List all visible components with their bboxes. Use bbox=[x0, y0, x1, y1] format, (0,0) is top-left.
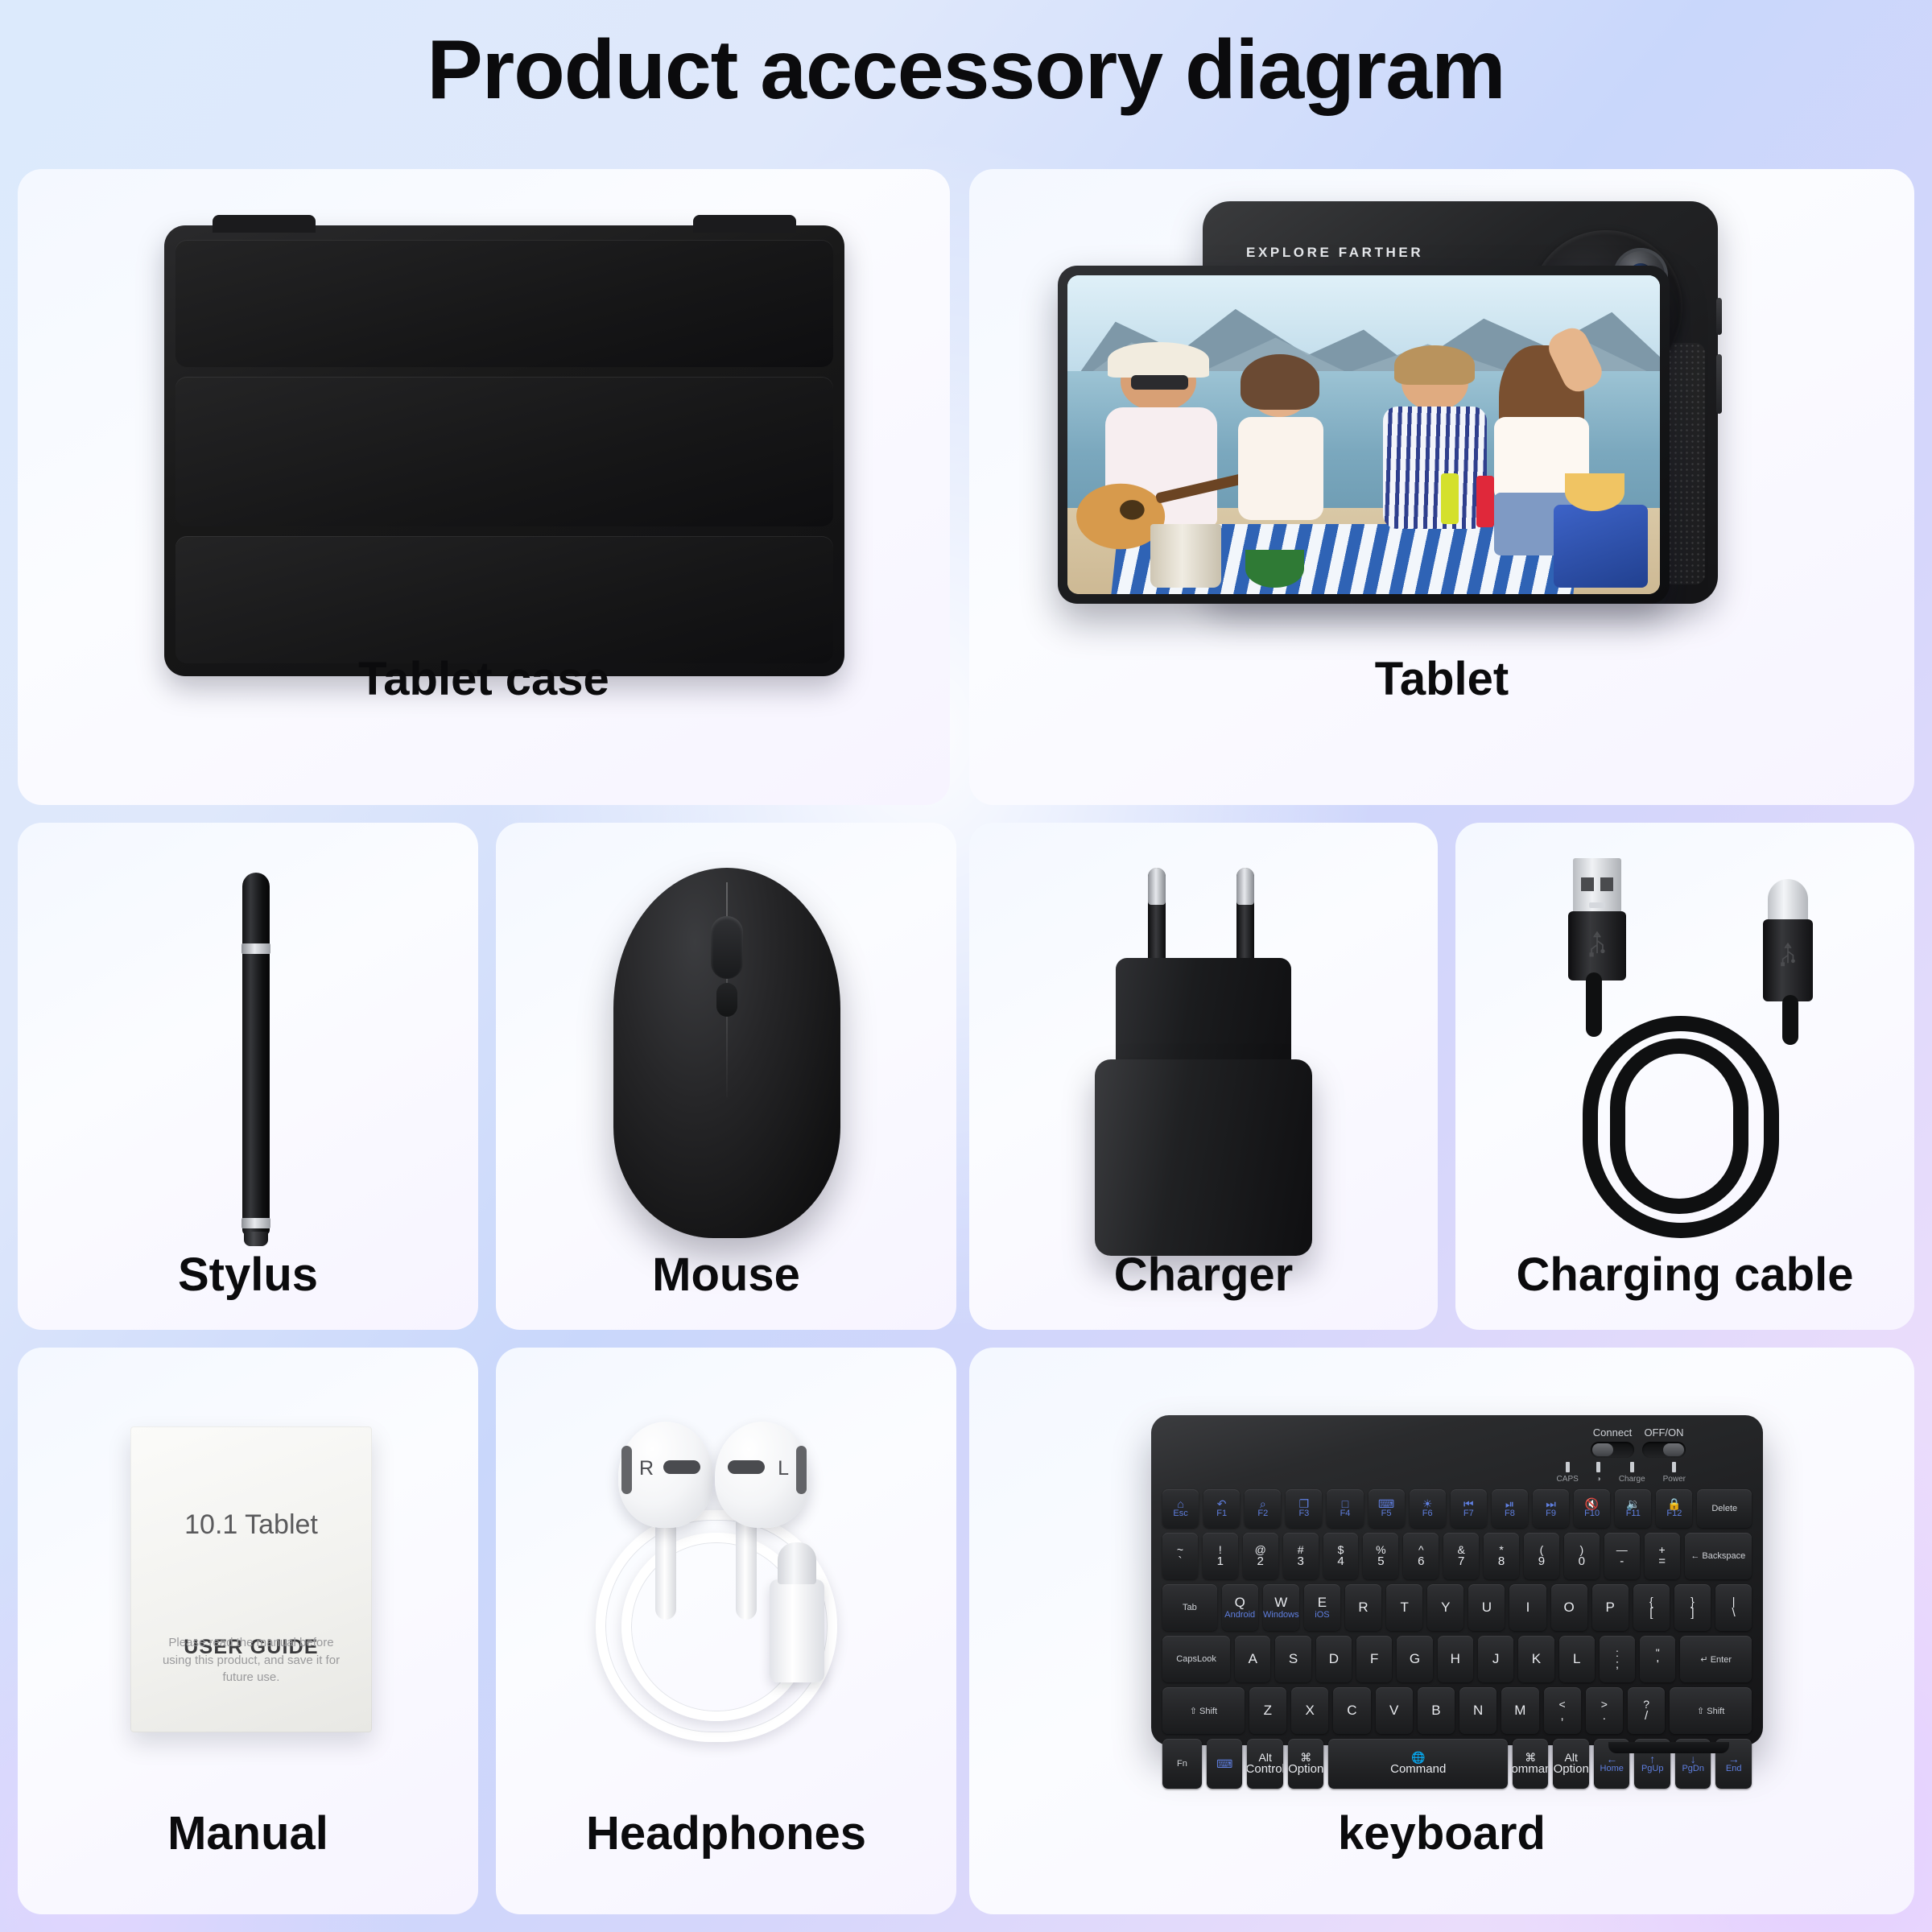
key-u[interactable]: U bbox=[1468, 1584, 1505, 1631]
key-4[interactable]: $4 bbox=[1323, 1533, 1359, 1579]
cable-loop-inner bbox=[1610, 1038, 1748, 1214]
key-sub-legend: iOS bbox=[1315, 1611, 1329, 1620]
key-1[interactable]: !1 bbox=[1203, 1533, 1238, 1579]
earbud-left: L bbox=[715, 1422, 810, 1528]
keyboard-foot bbox=[1608, 1742, 1729, 1753]
card-label-headphones: Headphones bbox=[496, 1806, 956, 1860]
power-button[interactable] bbox=[1716, 298, 1722, 335]
key-label: L bbox=[1573, 1651, 1580, 1667]
connect-switch[interactable]: Connect bbox=[1591, 1426, 1634, 1458]
screen-bottle-yellow bbox=[1441, 473, 1459, 524]
led-power-bar bbox=[1672, 1462, 1676, 1472]
keyboard-top-bar: Connect OFF/ON bbox=[1151, 1415, 1763, 1484]
connect-switch-knob[interactable] bbox=[1592, 1443, 1613, 1456]
earbud-right-mesh bbox=[663, 1460, 700, 1474]
key-n[interactable]: N bbox=[1459, 1687, 1496, 1734]
stylus-ring-top bbox=[242, 943, 270, 954]
card-label-manual: Manual bbox=[18, 1806, 478, 1860]
key-top-legend: > bbox=[1601, 1699, 1608, 1711]
key-top-legend: ( bbox=[1540, 1544, 1544, 1556]
key-glyph-icon: ↑ bbox=[1649, 1753, 1655, 1765]
key-bottom-legend: - bbox=[1620, 1555, 1624, 1568]
usb-a-slot-left bbox=[1581, 877, 1594, 891]
key-glyph-icon: ❐ bbox=[1299, 1498, 1310, 1509]
key-glyph-icon: ← bbox=[1606, 1753, 1617, 1765]
key-bottom-legend: ` bbox=[1178, 1555, 1182, 1568]
key-bottom-legend: . bbox=[1603, 1710, 1606, 1723]
key-f[interactable]: F bbox=[1356, 1636, 1392, 1682]
key-top-legend: } bbox=[1690, 1596, 1695, 1608]
headphones-illustration: R L bbox=[568, 1422, 890, 1752]
led-charge: Charge bbox=[1619, 1462, 1645, 1484]
usb-a-connector bbox=[1568, 858, 1626, 979]
key-bottom-legend: Control bbox=[1247, 1763, 1283, 1776]
charger-illustration bbox=[1095, 868, 1312, 1257]
key-sub-legend: Android bbox=[1224, 1611, 1255, 1620]
key-label: U bbox=[1482, 1600, 1492, 1616]
key-top-legend: " bbox=[1656, 1647, 1660, 1659]
key-glyph-icon: 🔒 bbox=[1667, 1498, 1681, 1509]
key-8[interactable]: *8 bbox=[1484, 1533, 1519, 1579]
key-top-legend: @ bbox=[1255, 1544, 1266, 1556]
key-a[interactable]: A bbox=[1235, 1636, 1270, 1682]
usb-a-body bbox=[1568, 911, 1626, 980]
key-delete[interactable]: Delete bbox=[1697, 1489, 1752, 1528]
stylus-ring-bottom bbox=[242, 1218, 270, 1228]
key-sub-legend: F11 bbox=[1626, 1509, 1641, 1519]
screen-watermelon-bowl bbox=[1245, 550, 1305, 588]
screen-bottle-red bbox=[1476, 476, 1494, 526]
key-k[interactable]: K bbox=[1518, 1636, 1554, 1682]
key-key[interactable]: —- bbox=[1604, 1533, 1640, 1579]
key-f10[interactable]: 🔇F10 bbox=[1574, 1489, 1610, 1528]
card-stylus[interactable]: Stylus bbox=[18, 823, 478, 1330]
key-bottom-legend: / bbox=[1645, 1710, 1648, 1723]
card-keyboard[interactable]: Connect OFF/ON bbox=[969, 1348, 1914, 1914]
keyboard-shell: Connect OFF/ON bbox=[1151, 1415, 1763, 1745]
key-label: CapsLook bbox=[1176, 1654, 1216, 1664]
key-label: D bbox=[1329, 1651, 1339, 1667]
key-sub-legend: PgUp bbox=[1641, 1765, 1664, 1774]
key-w[interactable]: WWindows bbox=[1263, 1584, 1299, 1631]
key-label: Z bbox=[1264, 1703, 1272, 1719]
key-glyph-icon: ⌕ bbox=[1260, 1498, 1266, 1509]
key-sub-legend: F6 bbox=[1422, 1509, 1433, 1519]
key-o[interactable]: O bbox=[1551, 1584, 1587, 1631]
key-fn[interactable]: Fn bbox=[1162, 1739, 1202, 1789]
key-label: ← Backspace bbox=[1690, 1551, 1745, 1561]
key-7[interactable]: &7 bbox=[1443, 1533, 1479, 1579]
key-label: Y bbox=[1441, 1600, 1450, 1616]
led-power: Power bbox=[1663, 1462, 1686, 1484]
key-top-legend: ⌘ bbox=[1300, 1752, 1311, 1764]
key-3[interactable]: #3 bbox=[1283, 1533, 1319, 1579]
key-glyph-icon: □ bbox=[1342, 1498, 1348, 1509]
key-label: W bbox=[1274, 1595, 1287, 1611]
accessory-diagram-page: Product accessory diagram Tablet case EX… bbox=[0, 0, 1932, 1932]
key-label: T bbox=[1400, 1600, 1408, 1616]
key-sub-legend: End bbox=[1726, 1765, 1742, 1774]
key-label: V bbox=[1389, 1703, 1398, 1719]
bluetooth-icon: ◑ bbox=[1596, 1475, 1601, 1484]
keyboard-led-group: CAPS ◑ Charge Power bbox=[1557, 1462, 1686, 1484]
charger-pin-left bbox=[1148, 868, 1166, 971]
connect-switch-label: Connect bbox=[1591, 1426, 1634, 1439]
key-label: J bbox=[1492, 1651, 1500, 1667]
earbud-right-edge bbox=[621, 1446, 632, 1494]
card-label-charging-cable: Charging cable bbox=[1455, 1248, 1914, 1302]
key-f8[interactable]: ⏯F8 bbox=[1492, 1489, 1528, 1528]
key-label: G bbox=[1410, 1651, 1420, 1667]
usb-c-shell bbox=[1768, 879, 1808, 924]
screen-ice-bucket bbox=[1150, 524, 1221, 588]
key-glyph-icon: ⌨ bbox=[1216, 1758, 1232, 1769]
key-t[interactable]: T bbox=[1386, 1584, 1422, 1631]
manual-illustration: 10.1 Tablet USER GUIDE Please read the m… bbox=[130, 1426, 372, 1732]
led-caps: CAPS bbox=[1557, 1462, 1579, 1484]
key-q[interactable]: QAndroid bbox=[1222, 1584, 1258, 1631]
manual-note-text: Please read the manual before using this… bbox=[159, 1634, 343, 1686]
keyboard-row-qwerty-row: TabQAndroidWWindowsEiOSRTYUIOP{[}]|\ bbox=[1162, 1584, 1752, 1631]
keyboard-illustration: Connect OFF/ON bbox=[1151, 1415, 1763, 1745]
key-top-legend: { bbox=[1649, 1596, 1653, 1608]
led-bluetooth: ◑ bbox=[1596, 1462, 1601, 1484]
key-label: Fn bbox=[1177, 1759, 1187, 1769]
key-label: ⇧ Shift bbox=[1697, 1706, 1724, 1716]
key-key[interactable]: ⌨ bbox=[1207, 1739, 1243, 1789]
usb-a-shell bbox=[1573, 858, 1621, 916]
key-glyph-icon: ⌨ bbox=[1378, 1498, 1394, 1509]
key-glyph-icon: 🔇 bbox=[1585, 1498, 1599, 1509]
key-backspace[interactable]: ← Backspace bbox=[1685, 1533, 1752, 1579]
key-2[interactable]: @2 bbox=[1243, 1533, 1278, 1579]
case-panel-middle bbox=[175, 377, 833, 526]
key-bottom-legend: 3 bbox=[1297, 1555, 1303, 1568]
key-sub-legend: F12 bbox=[1666, 1509, 1682, 1519]
key-top-legend: | bbox=[1732, 1596, 1736, 1608]
key-sub-legend: F3 bbox=[1298, 1509, 1309, 1519]
keyboard-row-shift-row: ⇧ ShiftZXCVBNM<,>.?/⇧ Shift bbox=[1162, 1687, 1752, 1734]
key-label: M bbox=[1514, 1703, 1525, 1719]
key-f3[interactable]: ❐F3 bbox=[1286, 1489, 1322, 1528]
key-key[interactable]: += bbox=[1645, 1533, 1680, 1579]
key-f9[interactable]: ⏭F9 bbox=[1533, 1489, 1569, 1528]
key-bottom-legend: 2 bbox=[1257, 1555, 1264, 1568]
power-switch-knob[interactable] bbox=[1663, 1443, 1684, 1456]
key-label: K bbox=[1532, 1651, 1541, 1667]
key-bottom-legend: Command bbox=[1513, 1763, 1549, 1776]
key-bottom-legend: Option bbox=[1554, 1763, 1589, 1776]
charging-cable-illustration bbox=[1505, 858, 1868, 1253]
key-sub-legend: F1 bbox=[1216, 1509, 1227, 1519]
page-title: Product accessory diagram bbox=[0, 23, 1932, 118]
key-option[interactable]: ⌘Option bbox=[1288, 1739, 1324, 1789]
key-0[interactable]: )0 bbox=[1564, 1533, 1600, 1579]
key-capslook[interactable]: CapsLook bbox=[1162, 1636, 1230, 1682]
key-top-legend: ^ bbox=[1418, 1544, 1424, 1556]
tablet-front bbox=[1058, 266, 1670, 604]
key-glyph-icon: ⏯ bbox=[1505, 1498, 1514, 1509]
key-sub-legend: Windows bbox=[1263, 1611, 1299, 1620]
key-top-legend: * bbox=[1499, 1544, 1503, 1556]
key-bottom-legend: 9 bbox=[1538, 1555, 1545, 1568]
key-top-legend: & bbox=[1458, 1544, 1465, 1556]
key-g[interactable]: G bbox=[1397, 1636, 1432, 1682]
volume-button[interactable] bbox=[1716, 354, 1722, 414]
key-label: ⇧ Shift bbox=[1190, 1706, 1217, 1716]
key-sub-legend: F8 bbox=[1505, 1509, 1515, 1519]
key-bottom-legend: \ bbox=[1732, 1607, 1735, 1620]
mouse-dpi-button[interactable] bbox=[716, 983, 737, 1017]
key-top-legend: ⌘ bbox=[1525, 1752, 1536, 1764]
key-enter[interactable]: ↵ Enter bbox=[1680, 1636, 1752, 1682]
card-headphones[interactable]: R L Headphones bbox=[496, 1348, 956, 1914]
key-sub-legend: F9 bbox=[1546, 1509, 1556, 1519]
card-mouse[interactable]: Mouse bbox=[496, 823, 956, 1330]
key-label: C bbox=[1347, 1703, 1356, 1719]
key-esc[interactable]: ⌂Esc bbox=[1162, 1489, 1199, 1528]
key-sub-legend: F10 bbox=[1584, 1509, 1600, 1519]
power-switch-track[interactable] bbox=[1642, 1442, 1686, 1458]
key-r[interactable]: R bbox=[1345, 1584, 1381, 1631]
keyboard-row-function-row: ⌂Esc↶F1⌕F2❐F3□F4⌨F5☀F6⏮F7⏯F8⏭F9🔇F10🔉F11🔒… bbox=[1162, 1489, 1752, 1528]
led-power-label: Power bbox=[1663, 1475, 1686, 1484]
keyboard-row-home-row: CapsLookASDFGHJKL:;"'↵ Enter bbox=[1162, 1636, 1752, 1682]
cable-segment-left bbox=[1586, 972, 1602, 1037]
key-i[interactable]: I bbox=[1509, 1584, 1546, 1631]
usb-c-connector bbox=[1763, 879, 1813, 1000]
key-b[interactable]: B bbox=[1418, 1687, 1455, 1734]
key-f5[interactable]: ⌨F5 bbox=[1368, 1489, 1405, 1528]
key-sub-legend: Esc bbox=[1173, 1509, 1187, 1519]
key-top-legend: ! bbox=[1219, 1544, 1222, 1556]
power-switch[interactable]: OFF/ON bbox=[1642, 1426, 1686, 1458]
led-charge-bar bbox=[1630, 1462, 1634, 1472]
screen-fruit-bowl bbox=[1565, 473, 1624, 512]
key-sub-legend: PgDn bbox=[1682, 1765, 1704, 1774]
key-sub-legend: F7 bbox=[1463, 1509, 1474, 1519]
key-top-legend: < bbox=[1559, 1699, 1566, 1711]
key-bottom-legend: 8 bbox=[1498, 1555, 1505, 1568]
key-key[interactable]: {[ bbox=[1633, 1584, 1670, 1631]
key-key[interactable]: |\ bbox=[1715, 1584, 1752, 1631]
key-label: Tab bbox=[1183, 1603, 1197, 1612]
key-glyph-icon: ⏮ bbox=[1463, 1498, 1474, 1509]
case-tab-right bbox=[693, 215, 796, 233]
earbud-left-label: L bbox=[778, 1457, 789, 1480]
key-sub-legend: F5 bbox=[1381, 1509, 1392, 1519]
key-command[interactable]: 🌐Command bbox=[1328, 1739, 1508, 1789]
key-top-legend: $ bbox=[1338, 1544, 1344, 1556]
key-bottom-legend: 6 bbox=[1418, 1555, 1424, 1568]
card-tablet[interactable]: EXPLORE FARTHER Product:Tablet PC Model:… bbox=[969, 169, 1914, 805]
key-key[interactable]: ?/ bbox=[1628, 1687, 1665, 1734]
connect-switch-track[interactable] bbox=[1591, 1442, 1634, 1458]
key-f7[interactable]: ⏮F7 bbox=[1451, 1489, 1487, 1528]
case-panel-bottom bbox=[175, 536, 833, 663]
key-bottom-legend: , bbox=[1561, 1710, 1564, 1723]
usb-trident-icon bbox=[1587, 929, 1608, 958]
key-bottom-legend: 7 bbox=[1458, 1555, 1464, 1568]
key-label: I bbox=[1526, 1600, 1530, 1616]
key-label: R bbox=[1358, 1600, 1368, 1616]
key-f2[interactable]: ⌕F2 bbox=[1245, 1489, 1281, 1528]
key-label: F bbox=[1370, 1651, 1378, 1667]
key-key[interactable]: <, bbox=[1544, 1687, 1581, 1734]
key-label: E bbox=[1318, 1595, 1327, 1611]
charger-lower-body bbox=[1095, 1059, 1312, 1256]
key-label: O bbox=[1563, 1600, 1574, 1616]
key-top-legend: : bbox=[1616, 1647, 1619, 1659]
key-label: S bbox=[1289, 1651, 1298, 1667]
card-manual[interactable]: 10.1 Tablet USER GUIDE Please read the m… bbox=[18, 1348, 478, 1914]
usb-c-body bbox=[1763, 919, 1813, 1001]
key-bottom-legend: 1 bbox=[1217, 1555, 1224, 1568]
key-label: B bbox=[1431, 1703, 1440, 1719]
key-l[interactable]: L bbox=[1559, 1636, 1595, 1682]
key-label: P bbox=[1606, 1600, 1615, 1616]
key-j[interactable]: J bbox=[1478, 1636, 1513, 1682]
power-switch-label: OFF/ON bbox=[1642, 1426, 1686, 1439]
key-f1[interactable]: ↶F1 bbox=[1203, 1489, 1240, 1528]
key-s[interactable]: S bbox=[1275, 1636, 1311, 1682]
usb-a-notch bbox=[1589, 902, 1605, 908]
screen-cooler-box bbox=[1554, 505, 1649, 588]
key-bottom-legend: ' bbox=[1657, 1658, 1659, 1671]
key-key[interactable]: :; bbox=[1600, 1636, 1635, 1682]
charger-pin-right bbox=[1236, 868, 1254, 971]
key-option[interactable]: AltOption bbox=[1553, 1739, 1589, 1789]
key-top-legend: Alt bbox=[1565, 1752, 1578, 1764]
key-key[interactable]: }] bbox=[1674, 1584, 1711, 1631]
screen-person-two bbox=[1228, 361, 1334, 547]
card-charging-cable[interactable]: Charging cable bbox=[1455, 823, 1914, 1330]
card-charger[interactable]: Charger bbox=[969, 823, 1438, 1330]
key-control[interactable]: AltControl bbox=[1247, 1739, 1283, 1789]
key-tab[interactable]: Tab bbox=[1162, 1584, 1217, 1631]
manual-cover-title: 10.1 Tablet bbox=[130, 1509, 372, 1541]
led-charge-label: Charge bbox=[1619, 1475, 1645, 1484]
key-5[interactable]: %5 bbox=[1363, 1533, 1398, 1579]
key-top-legend: ? bbox=[1643, 1699, 1649, 1711]
key-f4[interactable]: □F4 bbox=[1327, 1489, 1363, 1528]
key-x[interactable]: X bbox=[1291, 1687, 1328, 1734]
cable-segment-right bbox=[1782, 995, 1798, 1045]
led-caps-bar bbox=[1566, 1462, 1570, 1472]
key-z[interactable]: Z bbox=[1249, 1687, 1286, 1734]
key-bottom-legend: Command bbox=[1390, 1763, 1446, 1776]
key-label: H bbox=[1451, 1651, 1460, 1667]
key-m[interactable]: M bbox=[1501, 1687, 1538, 1734]
key-glyph-icon: ⌂ bbox=[1177, 1498, 1183, 1509]
key-f6[interactable]: ☀F6 bbox=[1410, 1489, 1446, 1528]
card-label-tablet: Tablet bbox=[969, 652, 1914, 706]
key-top-legend: # bbox=[1298, 1544, 1304, 1556]
key-key[interactable]: ~` bbox=[1162, 1533, 1198, 1579]
stylus-tip bbox=[244, 1232, 268, 1246]
key-label: Delete bbox=[1711, 1504, 1737, 1513]
mouse-scroll-wheel[interactable] bbox=[711, 916, 743, 979]
card-label-keyboard: keyboard bbox=[969, 1806, 1914, 1860]
tablet-case-illustration bbox=[164, 225, 844, 676]
stylus-illustration bbox=[240, 873, 272, 1235]
led-bluetooth-bar bbox=[1596, 1462, 1600, 1472]
key-label: N bbox=[1473, 1703, 1483, 1719]
keyboard-row-number-row: ~`!1@2#3$4%5^6&7*8(9)0—-+=← Backspace bbox=[1162, 1533, 1752, 1579]
keyboard-switch-group: Connect OFF/ON bbox=[1591, 1426, 1686, 1458]
key-glyph-icon: ↶ bbox=[1217, 1498, 1227, 1509]
key-bottom-legend: ; bbox=[1616, 1658, 1619, 1671]
card-label-charger: Charger bbox=[969, 1248, 1438, 1302]
usb-trident-icon bbox=[1778, 940, 1798, 968]
key-top-legend: ~ bbox=[1177, 1544, 1183, 1556]
key-key[interactable]: >. bbox=[1586, 1687, 1623, 1734]
key-sub-legend: Home bbox=[1600, 1765, 1624, 1774]
key-top-legend: — bbox=[1616, 1544, 1628, 1556]
key-shift[interactable]: ⇧ Shift bbox=[1670, 1687, 1752, 1734]
earbud-right-label: R bbox=[639, 1457, 654, 1480]
key-sub-legend: F4 bbox=[1340, 1509, 1351, 1519]
key-glyph-icon: 🌐 bbox=[1411, 1752, 1425, 1763]
headphone-usb-c-plug bbox=[770, 1579, 824, 1682]
key-glyph-icon: ↓ bbox=[1690, 1753, 1696, 1765]
tablet-illustration: EXPLORE FARTHER Product:Tablet PC Model:… bbox=[1058, 201, 1863, 636]
key-glyph-icon: → bbox=[1728, 1753, 1740, 1765]
earbud-left-mesh bbox=[728, 1460, 765, 1474]
key-top-legend: ) bbox=[1580, 1544, 1584, 1556]
key-f11[interactable]: 🔉F11 bbox=[1615, 1489, 1651, 1528]
key-bottom-legend: [ bbox=[1649, 1607, 1653, 1620]
key-p[interactable]: P bbox=[1592, 1584, 1629, 1631]
key-top-legend: Alt bbox=[1259, 1752, 1272, 1764]
key-h[interactable]: H bbox=[1438, 1636, 1473, 1682]
case-panel-top bbox=[175, 240, 833, 367]
card-tablet-case[interactable]: Tablet case bbox=[18, 169, 950, 805]
tablet-screen bbox=[1067, 275, 1660, 594]
key-f12[interactable]: 🔒F12 bbox=[1656, 1489, 1692, 1528]
key-glyph-icon: 🔉 bbox=[1626, 1498, 1640, 1509]
mouse-illustration bbox=[613, 868, 840, 1238]
key-v[interactable]: V bbox=[1376, 1687, 1413, 1734]
key-shift[interactable]: ⇧ Shift bbox=[1162, 1687, 1245, 1734]
card-label-stylus: Stylus bbox=[18, 1248, 478, 1302]
key-y[interactable]: Y bbox=[1427, 1584, 1463, 1631]
case-tab-left bbox=[213, 215, 316, 233]
key-label: ↵ Enter bbox=[1700, 1654, 1732, 1665]
key-bottom-legend: Option bbox=[1288, 1763, 1323, 1776]
usb-a-slot-right bbox=[1600, 877, 1613, 891]
key-9[interactable]: (9 bbox=[1524, 1533, 1559, 1579]
key-bottom-legend: ] bbox=[1690, 1607, 1694, 1620]
earbud-right: R bbox=[618, 1422, 713, 1528]
key-command[interactable]: ⌘Command bbox=[1513, 1739, 1549, 1789]
key-bottom-legend: = bbox=[1658, 1555, 1666, 1568]
key-d[interactable]: D bbox=[1316, 1636, 1352, 1682]
key-top-legend: + bbox=[1659, 1544, 1666, 1556]
headphone-plug-tip bbox=[778, 1542, 816, 1584]
key-bottom-legend: 4 bbox=[1337, 1555, 1344, 1568]
key-sub-legend: F2 bbox=[1257, 1509, 1268, 1519]
key-top-legend: % bbox=[1376, 1544, 1385, 1556]
earbud-left-edge bbox=[796, 1446, 807, 1494]
key-6[interactable]: ^6 bbox=[1403, 1533, 1439, 1579]
manual-cover bbox=[130, 1426, 372, 1732]
key-key[interactable]: "' bbox=[1640, 1636, 1675, 1682]
key-label: X bbox=[1305, 1703, 1314, 1719]
key-c[interactable]: C bbox=[1333, 1687, 1370, 1734]
key-glyph-icon: ☀ bbox=[1422, 1498, 1433, 1509]
key-e[interactable]: EiOS bbox=[1304, 1584, 1340, 1631]
